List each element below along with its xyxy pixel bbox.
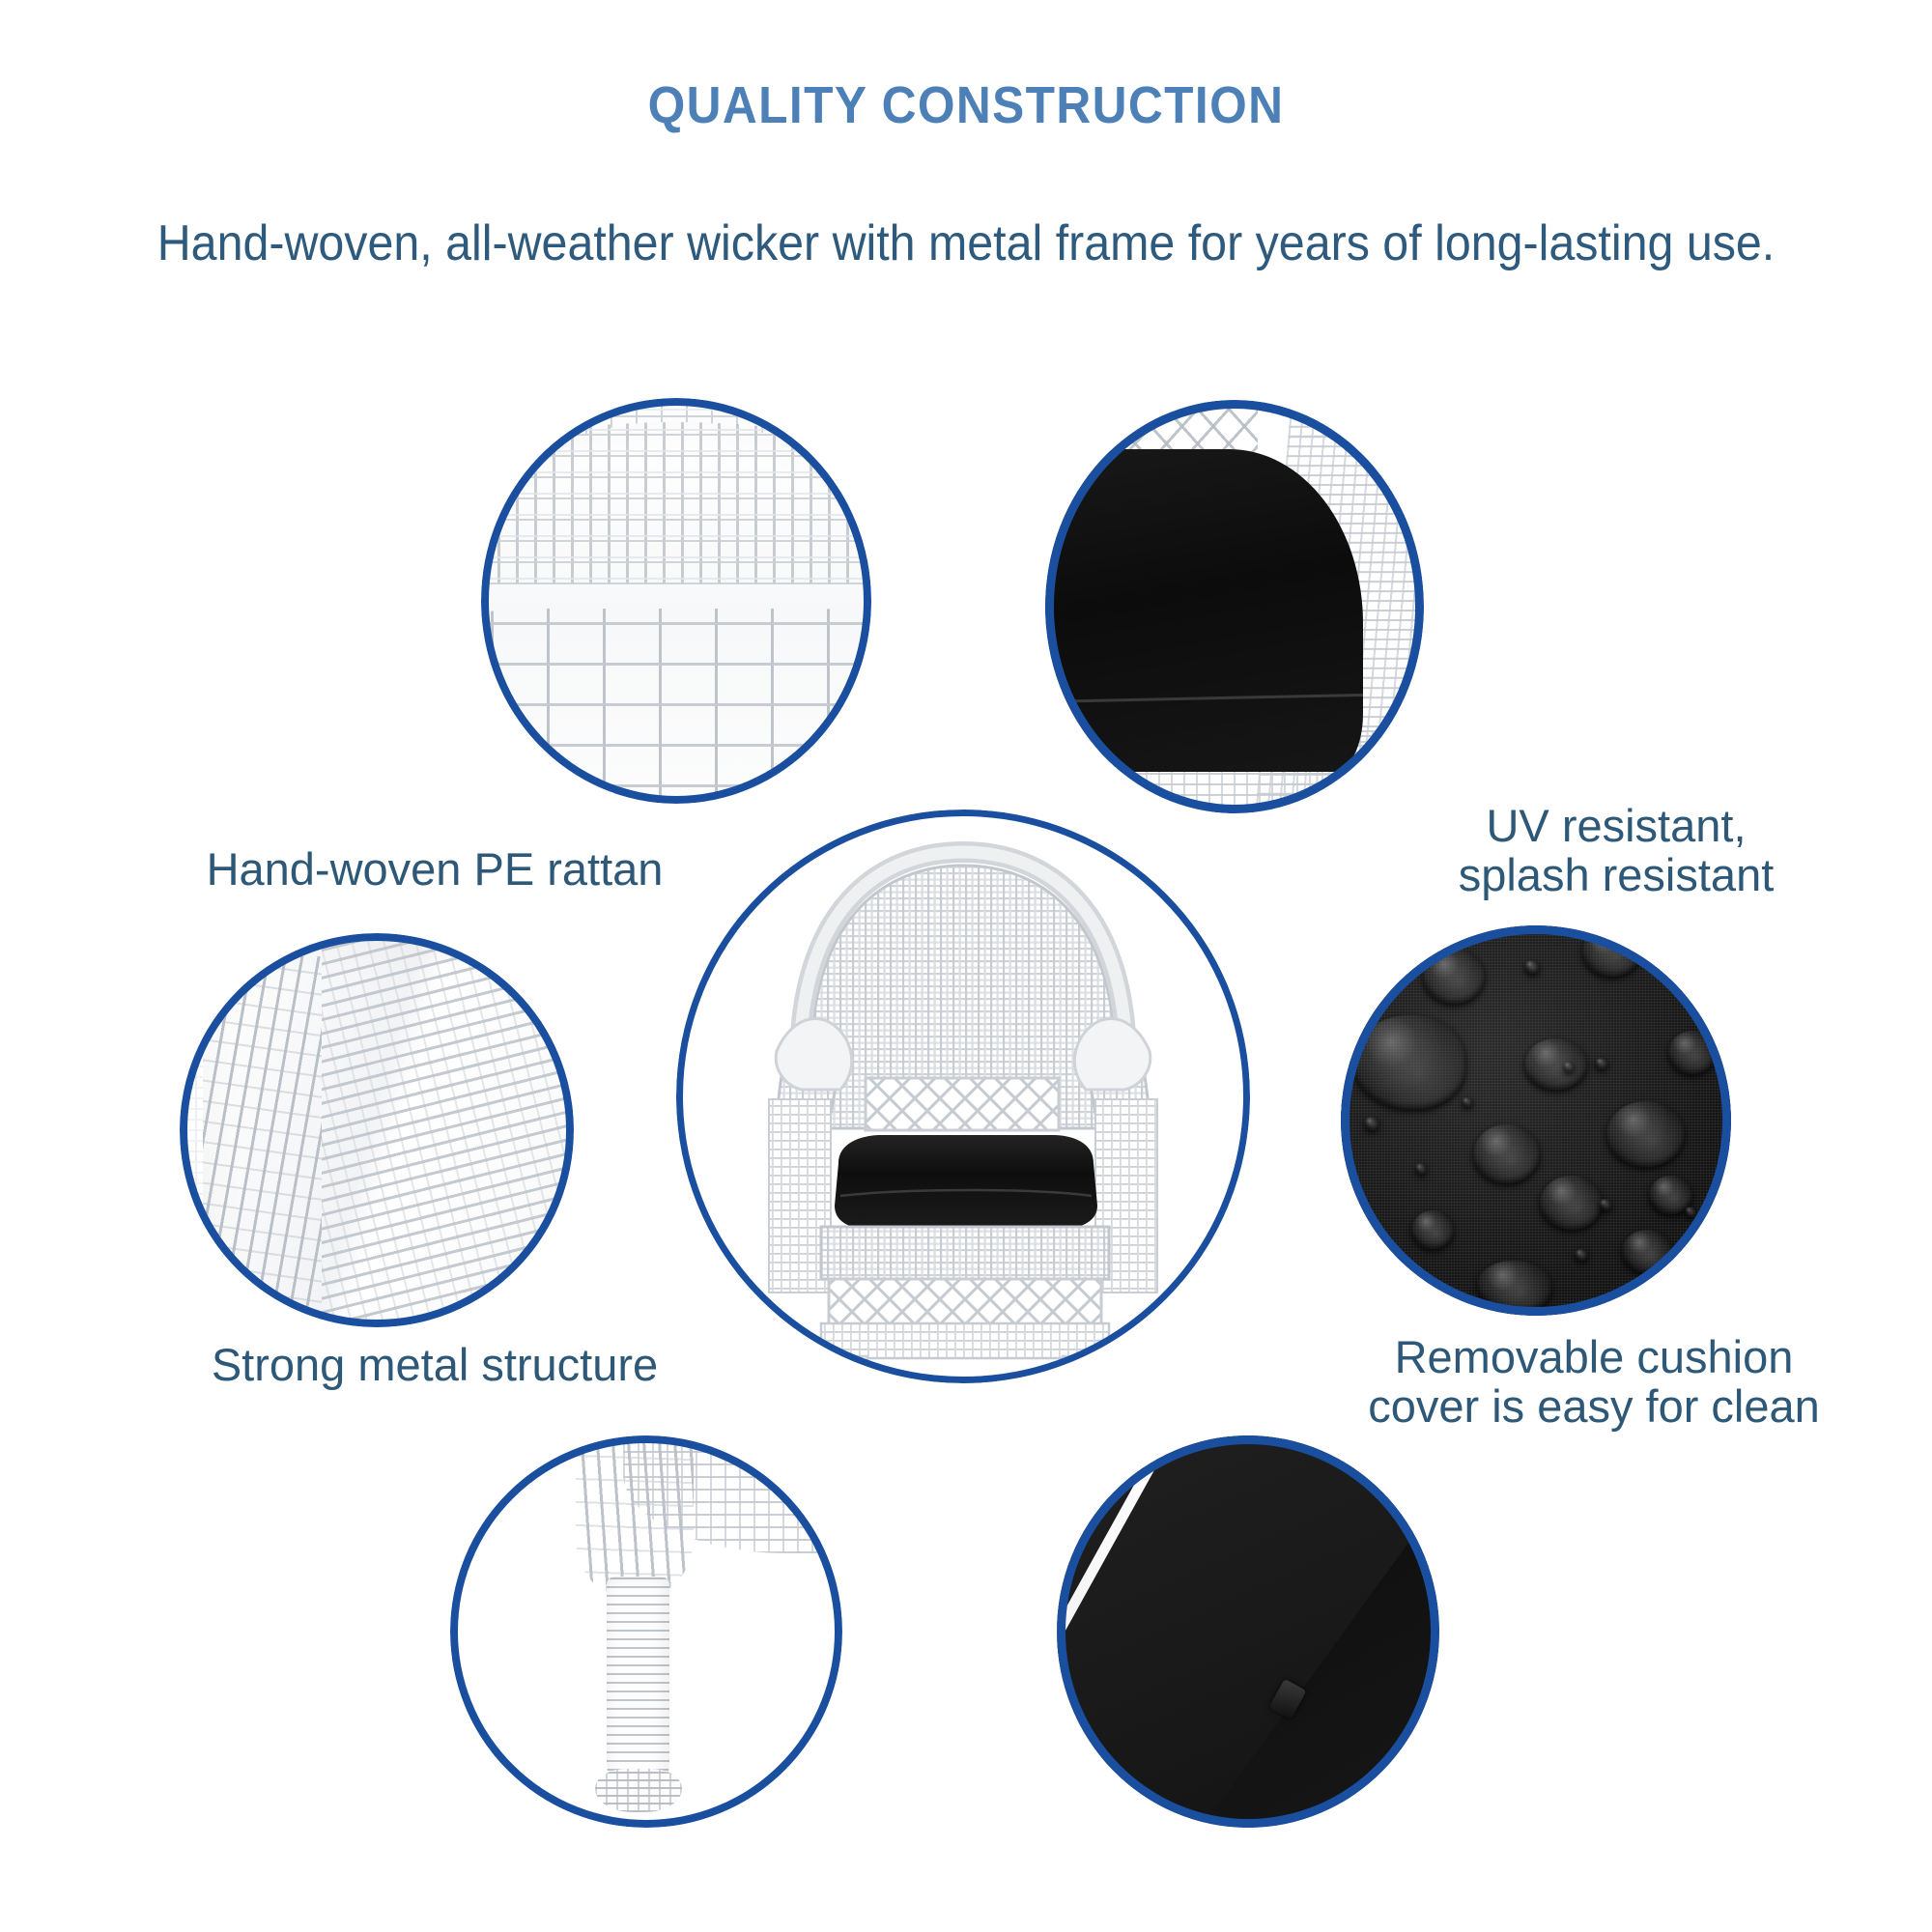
water-droplet	[1473, 1124, 1540, 1183]
caption-removable-cushion-cover: Removable cushion cover is easy for clea…	[1333, 1333, 1855, 1432]
feature-circle-cushion-zipper	[1057, 1435, 1439, 1828]
wicker-armchair-illustration	[676, 810, 1250, 1383]
wicker-upper-band	[481, 422, 871, 584]
feature-circle-strong-metal-structure	[180, 933, 574, 1327]
water-droplet	[1423, 949, 1486, 1004]
frame-face-right	[322, 933, 574, 1327]
chair-back-lattice	[866, 1078, 1059, 1130]
water-droplet	[1582, 925, 1641, 977]
chair-seat-cushion	[835, 1135, 1097, 1229]
cushion-on-wicker-photo	[1045, 400, 1424, 813]
water-droplet	[1477, 1261, 1551, 1312]
chair-lower-rail	[821, 1323, 1109, 1358]
center-circle-full-chair	[676, 810, 1250, 1383]
water-droplet	[1606, 1101, 1685, 1168]
feature-circle-removable-cushion-cover	[1341, 925, 1731, 1316]
chair-arm-cap-right	[1074, 1018, 1150, 1090]
frame-face-left	[203, 956, 321, 1327]
feature-circle-chair-leg-detail	[450, 1435, 842, 1828]
caption-strong-metal-structure: Strong metal structure	[106, 1341, 763, 1390]
chair-skirt-lattice	[829, 1279, 1101, 1325]
water-droplet	[1540, 1176, 1603, 1231]
water-droplet	[1668, 1031, 1715, 1073]
page-subtitle: Hand-woven, all-weather wicker with meta…	[68, 214, 1864, 272]
leg-foot-cap	[595, 1769, 681, 1812]
chair-leg-front-left	[835, 1356, 867, 1383]
water-droplet-small	[1599, 1199, 1613, 1210]
full-chair-photo	[676, 810, 1250, 1383]
infographic-page: QUALITY CONSTRUCTION Hand-woven, all-wea…	[0, 0, 1932, 1932]
leg-shaft-wrap	[607, 1577, 669, 1788]
frame-corner-photo	[180, 933, 574, 1327]
wicker-lower-band	[481, 609, 871, 804]
water-droplet-small	[1415, 1163, 1427, 1174]
water-droplet	[1352, 1015, 1465, 1109]
caption-uv-splash-resistant: UV resistant, splash resistant	[1389, 802, 1843, 900]
chair-arm-cap-left	[776, 1018, 851, 1090]
black-cushion-pad	[1045, 449, 1363, 772]
feature-circle-uv-splash-resistant	[1045, 400, 1424, 813]
page-title: QUALITY CONSTRUCTION	[77, 75, 1855, 135]
rattan-weave-photo	[481, 398, 871, 804]
caption-hand-woven-pe-rattan: Hand-woven PE rattan	[126, 845, 744, 895]
water-droplet	[1622, 1230, 1673, 1272]
chair-leg-photo	[450, 1435, 842, 1828]
cushion-zipper-photo	[1057, 1435, 1439, 1828]
water-droplet	[1524, 1038, 1587, 1090]
chair-seat-rail	[821, 1227, 1109, 1279]
water-droplets-photo	[1341, 925, 1731, 1316]
chair-leg-front-right	[1063, 1356, 1097, 1383]
feature-circle-hand-woven-pe-rattan	[481, 398, 871, 804]
water-droplet-small	[1364, 1117, 1379, 1130]
leg-knee-weave	[576, 1435, 694, 1596]
